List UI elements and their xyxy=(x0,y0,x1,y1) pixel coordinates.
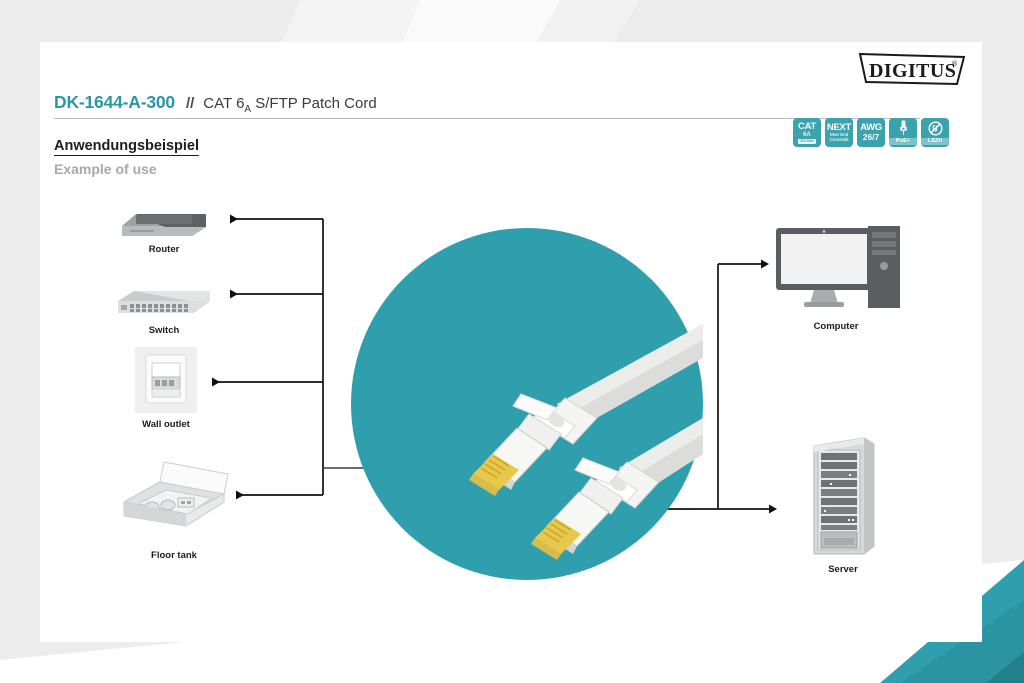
device-wall-outlet-label: Wall outlet xyxy=(117,419,215,430)
device-computer-label: Computer xyxy=(784,321,888,332)
device-router-label: Router xyxy=(112,244,216,255)
device-floor-tank-label: Floor tank xyxy=(122,550,226,561)
device-wall-outlet: Wall outlet xyxy=(135,347,197,413)
device-router: Router xyxy=(116,206,212,240)
product-photo xyxy=(351,228,703,580)
content-card: DIGITUS ® DK-1644-A-300 // CAT 6A S/FTP … xyxy=(40,42,982,642)
device-server: Server xyxy=(808,434,878,558)
device-server-label: Server xyxy=(791,564,895,575)
device-floor-tank: Floor tank xyxy=(116,460,232,544)
device-switch: Switch xyxy=(112,285,216,319)
device-computer: Computer xyxy=(772,224,902,316)
application-diagram: Router xyxy=(40,42,982,642)
device-switch-label: Switch xyxy=(112,325,216,336)
